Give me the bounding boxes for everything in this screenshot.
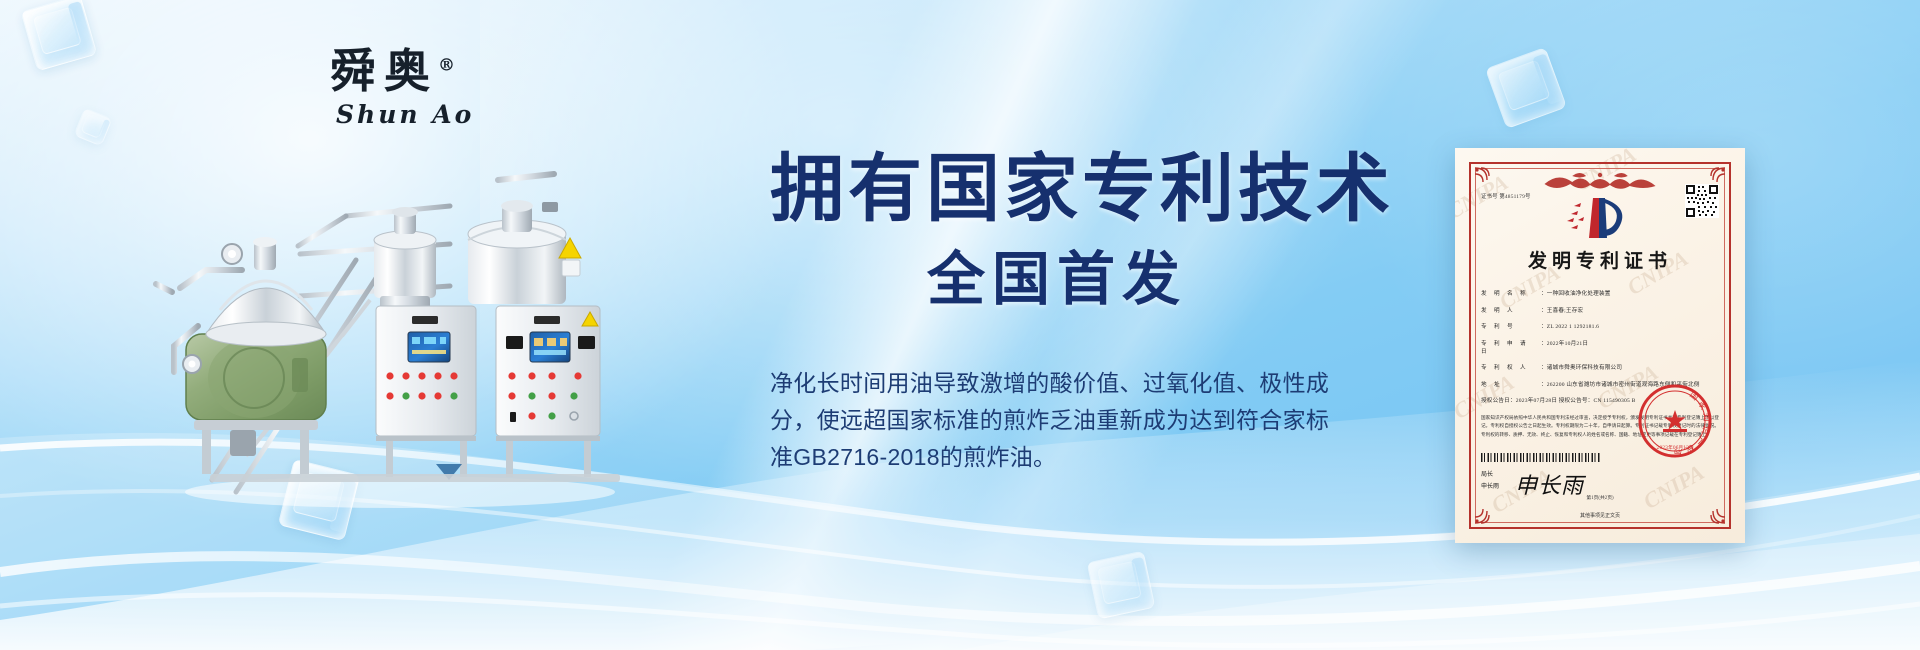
description-paragraph: 净化长时间用油导致激增的酸价值、过氧化值、极性成分，使远超国家标准的煎炸乏油重新… (770, 365, 1330, 477)
certificate-page-number: 第1页(共2页) (1481, 494, 1719, 501)
certificate-field-label: 发 明 人 (1481, 306, 1541, 314)
certificate-field-value: ：2022年10月21日 (1541, 339, 1719, 347)
certificate-title: 发明专利证书 (1481, 246, 1719, 273)
registered-mark-icon: ® (438, 56, 455, 76)
certificate-field-label: 专 利 申 请 日 (1481, 339, 1541, 355)
certificate-field-value: ：一种回收油净化处理装置 (1541, 289, 1719, 297)
certificate-field-row: 专 利 号：ZL 2022 1 1292181.6 (1481, 322, 1719, 330)
logo-name-cn: 舜奥® (330, 48, 510, 94)
ice-cube-top-left (21, 0, 98, 71)
header-ornament (1481, 170, 1719, 190)
seal-date: 2023年06月13日 (1656, 444, 1693, 451)
certificate-field-row: 专 利 权 人：诸城市舜奥环保科技有限公司 (1481, 363, 1719, 371)
certificate-field-label: 专 利 权 人 (1481, 363, 1541, 371)
certificate-field-row: 发 明 人：王喜春;王存宏 (1481, 306, 1719, 314)
patent-certificate: CNIPA CNIPA CNIPA CNIPA CNIPA CNIPA CNIP… (1455, 148, 1745, 543)
official-red-seal: 国家知识产权局 2023年06月13日 (1637, 383, 1713, 459)
certificate-field-label: 发 明 名 称 (1481, 289, 1541, 297)
cnipa-emblem-icon (1481, 194, 1719, 244)
promo-banner: 舜奥® Shun Ao (0, 0, 1920, 650)
certificate-field-label: 地 址 (1481, 380, 1541, 388)
certificate-field-list: 发 明 名 称：一种回收油净化处理装置发 明 人：王喜春;王存宏专 利 号：ZL… (1481, 289, 1719, 388)
ice-cube-bottom-mid (1087, 551, 1156, 620)
qr-code (1685, 184, 1719, 218)
headline: 拥有国家专利技术 (770, 150, 1370, 228)
product-image-oil-purification-equipment (150, 120, 670, 520)
certificate-field-row: 专 利 申 请 日：2022年10月21日 (1481, 339, 1719, 355)
subheadline: 全国首发 (770, 250, 1370, 311)
ice-cube-right-top (1485, 47, 1567, 129)
director-labels: 局长 申长雨 (1481, 470, 1515, 493)
certificate-field-value: ：诸城市舜奥环保科技有限公司 (1541, 363, 1719, 371)
banner-copy: 拥有国家专利技术 全国首发 净化长时间用油导致激增的酸价值、过氧化值、极性成分，… (770, 150, 1370, 476)
ice-cube-left-upper (73, 107, 112, 146)
certificate-field-label: 专 利 号 (1481, 322, 1541, 330)
certificate-field-value: ：ZL 2022 1 1292181.6 (1541, 322, 1719, 330)
certificate-field-row: 发 明 名 称：一种回收油净化处理装置 (1481, 289, 1719, 297)
certificate-field-value: ：王喜春;王存宏 (1541, 306, 1719, 314)
certificate-barcode (1481, 453, 1601, 462)
certificate-footnote: 其他事项见正文页 (1481, 512, 1719, 519)
